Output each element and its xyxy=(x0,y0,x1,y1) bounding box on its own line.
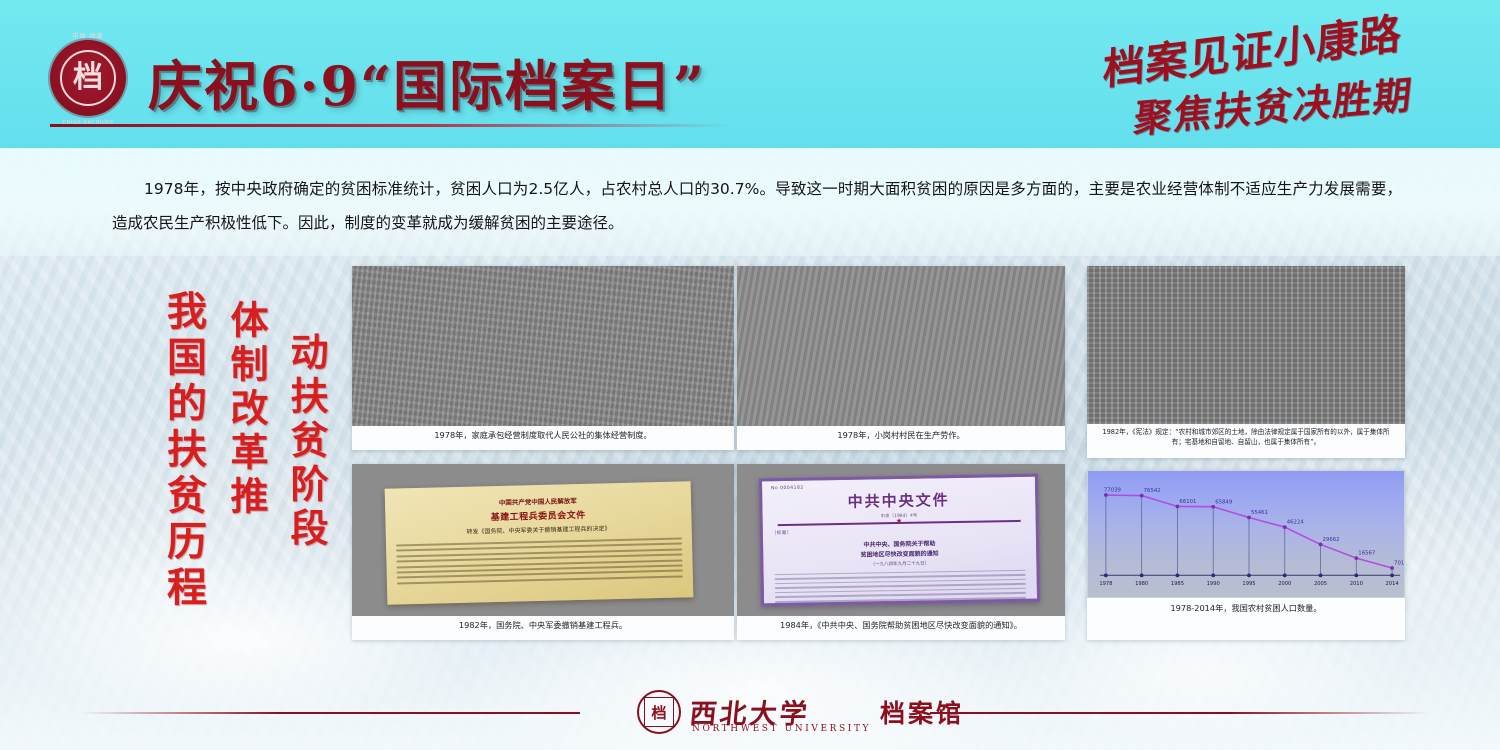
svg-text:77039: 77039 xyxy=(1104,488,1122,494)
page-title: 庆祝6·9“国际档案日” xyxy=(148,42,706,121)
photo-card-engineering-corps-document: 中国共产党中国人民解放军 基建工程兵委员会文件 转发《国务院、中央军委关于撤销基… xyxy=(352,464,734,640)
xiaogang-village-photo xyxy=(737,266,1065,426)
document-sheet: 中国共产党中国人民解放军 基建工程兵委员会文件 转发《国务院、中央军委关于撤销基… xyxy=(385,482,693,605)
footer-divider-left xyxy=(80,712,580,714)
intro-paragraph: 1978年，按中央政府确定的贫困标准统计，贫困人口为2.5亿人，占农村总人口的3… xyxy=(112,172,1402,240)
chart-caption: 1978-2014年，我国农村贫困人口数量。 xyxy=(1087,598,1405,620)
seal-ring: 档 xyxy=(60,50,116,106)
vertical-calligraphy-block: 我国的扶贫历程 体制改革推 动扶贫阶段 xyxy=(140,272,340,652)
vertical-calligraphy-column-3: 动扶贫阶段 xyxy=(279,332,334,552)
photo-caption: 1978年，小岗村村民在生产劳作。 xyxy=(737,426,1065,446)
chart-value-labels: 7703976542661016584955461462242966216567… xyxy=(1104,488,1404,567)
document-body-lines xyxy=(396,538,682,585)
document-header-line-2: 基建工程兵委员会文件 xyxy=(396,506,682,526)
svg-text:1980: 1980 xyxy=(1135,581,1148,587)
chart-plot-area: 7703976542661016584955461462242966216567… xyxy=(1087,470,1405,598)
constitution-congress-photo xyxy=(1087,266,1405,424)
footer: 档 西北大学 NORTHWEST UNIVERSITY 档案馆 xyxy=(0,678,1500,750)
title-underline-divider xyxy=(50,124,730,127)
chart-x-axis-labels: 197819801985199019952000200520102014 xyxy=(1099,581,1398,587)
svg-text:16567: 16567 xyxy=(1358,551,1375,557)
chart-card-rural-poverty-population: 7703976542661016584955461462242966216567… xyxy=(1087,470,1405,640)
svg-text:65849: 65849 xyxy=(1215,499,1233,505)
svg-text:7017: 7017 xyxy=(1394,561,1404,567)
svg-text:1990: 1990 xyxy=(1207,581,1220,587)
document-sheet: No 0004182 中共中央文件 中发〔1984〕4号 ★ 〔标题〕 中共中央… xyxy=(759,474,1040,607)
engineering-corps-document-photo: 中国共产党中国人民解放军 基建工程兵委员会文件 转发《国务院、中央军委关于撤销基… xyxy=(352,464,734,616)
central-committee-notice-photo: No 0004182 中共中央文件 中发〔1984〕4号 ★ 〔标题〕 中共中央… xyxy=(737,464,1065,616)
photo-caption: 1982年，国务院、中央军委撤销基建工程兵。 xyxy=(352,616,734,636)
department-name: 档案馆 xyxy=(880,694,964,730)
poverty-population-line-chart: 7703976542661016584955461462242966216567… xyxy=(1088,471,1404,597)
document-label: 〔标题〕 xyxy=(772,525,1027,535)
document-divider: ★ xyxy=(778,520,1021,526)
svg-text:2010: 2010 xyxy=(1350,581,1363,587)
photo-caption: 1984年，《中共中央、国务院帮助贫困地区尽快改变面貌的通知》。 xyxy=(737,616,1065,636)
svg-text:1985: 1985 xyxy=(1171,581,1184,587)
seal-top-text: 中国 档案 xyxy=(50,31,126,40)
photo-card-xiaogang-village: 1978年，小岗村村民在生产劳作。 xyxy=(737,266,1065,450)
svg-text:55461: 55461 xyxy=(1251,510,1268,516)
photo-card-central-committee-notice: No 0004182 中共中央文件 中发〔1984〕4号 ★ 〔标题〕 中共中央… xyxy=(737,464,1065,640)
svg-text:66101: 66101 xyxy=(1179,499,1196,505)
svg-text:46224: 46224 xyxy=(1287,520,1305,526)
chart-drop-lines xyxy=(1106,495,1392,575)
footer-divider-right xyxy=(930,712,1430,714)
svg-text:2005: 2005 xyxy=(1314,581,1327,587)
vertical-calligraphy-column-1: 我国的扶贫历程 xyxy=(154,290,212,612)
china-archives-seal-icon: 中国 档案 档 CHINA ARCHIVES xyxy=(50,40,126,116)
photo-caption: 1978年，家庭承包经营制度取代人民公社的集体经营制度。 xyxy=(352,426,734,446)
photo-card-constitution-congress: 1982年，《宪法》规定：“农村和城市郊区的土地，除由法律规定属于国家所有的以外… xyxy=(1087,266,1405,458)
university-seal-glyph: 档 xyxy=(644,697,674,727)
document-title: 中共中央文件 xyxy=(771,488,1026,513)
svg-text:1978: 1978 xyxy=(1099,581,1112,587)
svg-text:29662: 29662 xyxy=(1323,537,1340,543)
svg-text:2014: 2014 xyxy=(1386,581,1399,587)
svg-text:1995: 1995 xyxy=(1242,581,1255,587)
document-body-lines xyxy=(773,569,1028,603)
university-seal-icon: 档 xyxy=(637,690,681,734)
seal-glyph: 档 xyxy=(73,63,103,93)
photo-card-household-contract: 1978年，家庭承包经营制度取代人民公社的集体经营制度。 xyxy=(352,266,734,450)
red-star-icon: ★ xyxy=(896,518,902,525)
vertical-calligraphy-column-2: 体制改革推 xyxy=(219,300,274,520)
household-contract-photo xyxy=(352,266,734,426)
university-name-en: NORTHWEST UNIVERSITY xyxy=(692,724,871,734)
svg-text:2000: 2000 xyxy=(1278,581,1291,587)
document-header-line-3: 转发《国务院、中央军委关于撤销基建工程兵的决定》 xyxy=(396,524,682,539)
poster-root: 中国 档案 档 CHINA ARCHIVES 庆祝6·9“国际档案日” 档案见证… xyxy=(0,0,1500,750)
photo-caption: 1982年，《宪法》规定：“农村和城市郊区的土地，除由法律规定属于国家所有的以外… xyxy=(1087,424,1405,451)
svg-text:76542: 76542 xyxy=(1144,488,1161,494)
